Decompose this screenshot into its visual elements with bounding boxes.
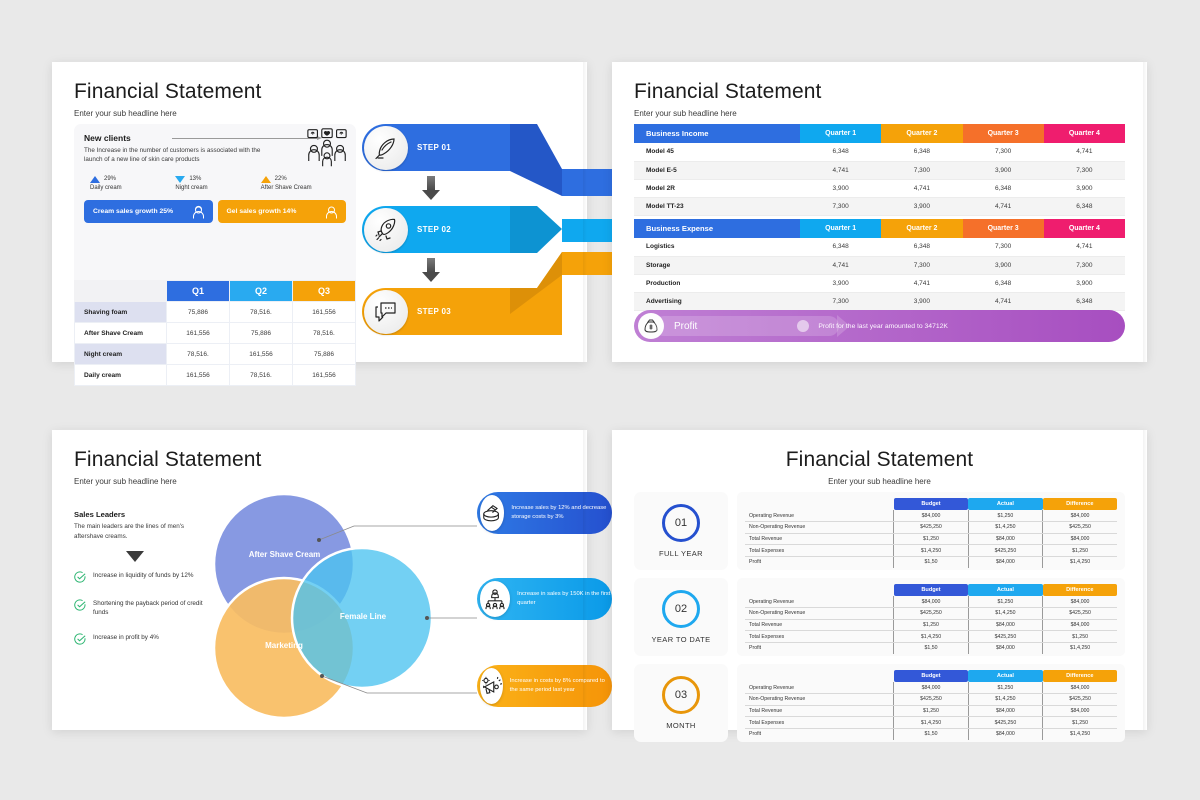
table-row: Profit $1,50 $84,000 $1,4,250 [745, 728, 1117, 740]
list-item: Increase in liquidity of funds by 12% [74, 571, 206, 583]
slide-3-header: Financial Statement Enter your sub headl… [52, 430, 587, 486]
cell: $425,250 [968, 545, 1042, 557]
cell: 78,516. [293, 323, 356, 344]
row-label: Operating Revenue [745, 682, 894, 694]
cell: 161,556 [230, 344, 293, 365]
table-row: Logistics 6,348 6,348 7,300 4,741 [634, 238, 1125, 256]
table-row: Non-Operating Revenue $425,250 $1,4,250 … [745, 694, 1117, 706]
callout-3[interactable]: Increase in costs by 8% compared to the … [477, 665, 612, 707]
cell: 3,900 [1044, 179, 1125, 197]
cell: $1,250 [968, 682, 1042, 694]
cell: $84,000 [1043, 596, 1117, 608]
cell: 75,886 [167, 302, 230, 323]
stats-row: 29% Daily cream 13% Night cream 22% Afte… [84, 176, 346, 192]
cell: 6,348 [881, 143, 962, 161]
table-row: Non-Operating Revenue $425,250 $1,4,250 … [745, 522, 1117, 534]
period-block-full-year[interactable]: 01 FULL YEAR [634, 492, 728, 570]
cell: $425,250 [1043, 608, 1117, 620]
cell: 7,300 [963, 143, 1044, 161]
list-item-label: Increase in liquidity of funds by 12% [93, 571, 193, 580]
cell: 6,348 [963, 274, 1044, 292]
cell: 4,741 [881, 179, 962, 197]
venn-circles [202, 486, 437, 726]
step-icon-wrap [364, 290, 408, 334]
cell: 75,886 [230, 323, 293, 344]
list-item-label: Increase in profit by 4% [93, 633, 159, 642]
cell: 3,900 [963, 256, 1044, 274]
table-row: Model 45 6,348 6,348 7,300 4,741 [634, 143, 1125, 161]
table-row: Total Revenue $1,250 $84,000 $84,000 [745, 705, 1117, 717]
progress-arrow [654, 316, 839, 336]
row-label: Shaving foam [75, 302, 167, 323]
table-row: Model E-5 4,741 7,300 3,900 7,300 [634, 161, 1125, 179]
expense-header-row: Business Expense Quarter 1 Quarter 2 Qua… [634, 219, 1125, 238]
cell: 6,348 [800, 143, 881, 161]
row-label: Night cream [75, 344, 167, 365]
cell: $1,250 [894, 705, 968, 717]
expense-q1: Quarter 1 [800, 219, 881, 238]
cell: 6,348 [881, 238, 962, 256]
slide-2-header: Financial Statement Enter your sub headl… [612, 62, 1147, 118]
income-header-row: Business Income Quarter 1 Quarter 2 Quar… [634, 124, 1125, 143]
cell: $1,50 [894, 556, 968, 568]
cell: $84,000 [968, 556, 1042, 568]
cell: 78,516. [230, 302, 293, 323]
budget-table-month: Budget Actual Difference Operating Reven… [737, 664, 1125, 742]
growth-badges: Cream sales growth 25% Gel sales growth … [84, 200, 346, 223]
cell: 7,300 [800, 292, 881, 310]
period-label: MONTH [666, 721, 696, 730]
arrow-icon [172, 138, 318, 139]
row-label: Advertising [634, 292, 800, 310]
budget-table-year-to-date: Budget Actual Difference Operating Reven… [737, 578, 1125, 656]
new-clients-body: The Increase in the number of customers … [84, 146, 274, 165]
callout-text: Increase sales by 12% and decrease stora… [511, 504, 612, 522]
row-label: Operating Revenue [745, 510, 894, 522]
cell: $1,250 [1043, 631, 1117, 643]
cell: 4,741 [963, 292, 1044, 310]
cell: $1,250 [894, 533, 968, 545]
cell: 161,556 [167, 323, 230, 344]
slide-1[interactable]: Financial Statement Enter your sub headl… [52, 62, 587, 362]
table-row: Model 2R 3,900 4,741 6,348 3,900 [634, 179, 1125, 197]
cell: $1,4,250 [968, 522, 1042, 534]
venn-label-female-line: Female Line [314, 612, 412, 623]
table-row: After Shave Cream 161,556 75,886 78,516. [75, 323, 356, 344]
expense-title: Business Expense [634, 219, 800, 238]
triangle-up-icon [261, 176, 271, 183]
table-row: Operating Revenue $84,000 $1,250 $84,000 [745, 510, 1117, 522]
slide-4[interactable]: Financial Statement Enter your sub headl… [612, 430, 1147, 730]
cell: $1,50 [894, 728, 968, 740]
column-header-budget: Budget [894, 498, 968, 510]
income-q1: Quarter 1 [800, 124, 881, 143]
profit-banner[interactable]: Profit Profit for the last year amounted… [634, 310, 1125, 342]
cell: $1,4,250 [1043, 642, 1117, 654]
cell: $425,250 [894, 694, 968, 706]
column-header-blank [745, 584, 894, 596]
check-circle-icon [74, 571, 86, 583]
slide-4-header: Financial Statement Enter your sub headl… [612, 430, 1147, 486]
slide-1-header: Financial Statement Enter your sub headl… [52, 62, 587, 118]
org-chart-icon [480, 581, 510, 617]
slide-deck: Financial Statement Enter your sub headl… [0, 0, 1200, 800]
page-title: Financial Statement [634, 80, 1147, 104]
period-number: 02 [662, 590, 700, 628]
cell: $1,4,250 [1043, 556, 1117, 568]
table-row: Advertising 7,300 3,900 4,741 6,348 [634, 292, 1125, 310]
step-label: STEP 01 [417, 143, 451, 152]
cell: $1,250 [894, 619, 968, 631]
chevron-down-icon [126, 551, 144, 562]
income-title: Business Income [634, 124, 800, 143]
row-label: Production [634, 274, 800, 292]
triangle-down-icon [175, 176, 185, 183]
table-header-row: Q1 Q2 Q3 [75, 281, 356, 302]
step-icon-wrap [364, 208, 408, 252]
badge-label: Cream sales growth 25% [93, 208, 173, 215]
row-label: Non-Operating Revenue [745, 694, 894, 706]
cell: 4,741 [963, 197, 1044, 215]
column-header-q3: Q3 [293, 281, 356, 302]
cell: $1,250 [1043, 545, 1117, 557]
column-header-q2: Q2 [230, 281, 293, 302]
stat-night-cream: 13% Night cream [175, 176, 260, 192]
table-row: Operating Revenue $84,000 $1,250 $84,000 [745, 596, 1117, 608]
income-expense-table: Business Income Quarter 1 Quarter 2 Quar… [634, 124, 1125, 311]
cell: $425,250 [968, 717, 1042, 729]
cell: $425,250 [1043, 694, 1117, 706]
page-subtitle: Enter your sub headline here [612, 477, 1147, 486]
step-03[interactable]: STEP 03 [362, 288, 510, 335]
table-row: Total Expenses $1,4,250 $425,250 $1,250 [745, 545, 1117, 557]
cell: $1,4,250 [894, 631, 968, 643]
row-label: Model TT-23 [634, 197, 800, 215]
column-header-difference: Difference [1043, 498, 1117, 510]
row-label: Total Expenses [745, 545, 894, 557]
column-header-budget: Budget [894, 670, 968, 682]
stat-value: 13% [189, 176, 201, 182]
row-label: Operating Revenue [745, 596, 894, 608]
table-row: Operating Revenue $84,000 $1,250 $84,000 [745, 682, 1117, 694]
cell: 3,900 [800, 274, 881, 292]
man-avatar-icon [325, 205, 338, 219]
feather-quill-icon [373, 135, 399, 161]
column-header-actual: Actual [968, 498, 1042, 510]
cell: 7,300 [881, 161, 962, 179]
cell: 6,348 [963, 179, 1044, 197]
list-item: Shortening the payback period of credit … [74, 599, 206, 618]
table-header-row: Budget Actual Difference [745, 498, 1117, 510]
budget-table-full-year: Budget Actual Difference Operating Reven… [737, 492, 1125, 570]
cell: $1,250 [1043, 717, 1117, 729]
page-subtitle: Enter your sub headline here [74, 109, 587, 118]
quarterly-sales-table: Q1 Q2 Q3 Shaving foam 75,886 78,516. 161… [74, 280, 356, 386]
period-number: 01 [662, 504, 700, 542]
cell: $84,000 [1043, 682, 1117, 694]
table-row: Profit $1,50 $84,000 $1,4,250 [745, 556, 1117, 568]
rocket-icon [373, 217, 399, 243]
table-row: Production 3,900 4,741 6,348 3,900 [634, 274, 1125, 292]
callout-1[interactable]: Increase sales by 12% and decrease stora… [477, 492, 612, 534]
table-row: Total Revenue $1,250 $84,000 $84,000 [745, 619, 1117, 631]
cell: $84,000 [894, 682, 968, 694]
list-item-label: Shortening the payback period of credit … [93, 599, 206, 618]
cell: $1,250 [968, 596, 1042, 608]
row-label: Total Revenue [745, 705, 894, 717]
row-label: Logistics [634, 238, 800, 256]
table-row: Night cream 78,516. 161,556 75,886 [75, 344, 356, 365]
cell: 3,900 [963, 161, 1044, 179]
cell: $84,000 [894, 596, 968, 608]
woman-avatar-icon [192, 205, 205, 219]
step-icon-wrap [364, 126, 408, 170]
cell: $84,000 [894, 510, 968, 522]
page-title: Financial Statement [74, 80, 587, 104]
cell: 78,516. [167, 344, 230, 365]
page-title: Financial Statement [74, 448, 587, 472]
megaphone-icon [480, 668, 503, 704]
table-row: Total Expenses $1,4,250 $425,250 $1,250 [745, 631, 1117, 643]
income-q3: Quarter 3 [963, 124, 1044, 143]
cell: $84,000 [968, 642, 1042, 654]
table-header-row: Budget Actual Difference [745, 584, 1117, 596]
cell: $84,000 [968, 619, 1042, 631]
column-header-budget: Budget [894, 584, 968, 596]
row-label: Model 45 [634, 143, 800, 161]
cell: 4,741 [800, 256, 881, 274]
triangle-up-icon [90, 176, 100, 183]
stat-label: Daily cream [90, 185, 175, 191]
expense-q2: Quarter 2 [881, 219, 962, 238]
cell: $1,4,250 [894, 717, 968, 729]
check-circle-icon [74, 633, 86, 645]
badge-label: Gel sales growth 14% [227, 208, 297, 215]
stat-value: 22% [275, 176, 287, 182]
table-row: Storage 4,741 7,300 3,900 7,300 [634, 256, 1125, 274]
callout-text: Increase in sales by 150K in the first q… [517, 590, 612, 608]
step-02[interactable]: STEP 02 [362, 206, 510, 253]
row-label: Non-Operating Revenue [745, 522, 894, 534]
page-subtitle: Enter your sub headline here [74, 477, 587, 486]
stat-label: After Shave Cream [261, 185, 346, 191]
callout-2[interactable]: Increase in sales by 150K in the first q… [477, 578, 612, 620]
row-label: Total Revenue [745, 533, 894, 545]
cell: 4,741 [1044, 143, 1125, 161]
column-header-blank [745, 498, 894, 510]
cell: 7,300 [800, 197, 881, 215]
list-item: Increase in profit by 4% [74, 633, 206, 645]
cell: 75,886 [293, 344, 356, 365]
stat-daily-cream: 29% Daily cream [90, 176, 175, 192]
cell: $84,000 [968, 705, 1042, 717]
row-label: Profit [745, 728, 894, 740]
cell: 6,348 [800, 238, 881, 256]
cell: $84,000 [968, 728, 1042, 740]
cell: 4,741 [881, 274, 962, 292]
table-header-row: Budget Actual Difference [745, 670, 1117, 682]
row-label: Total Expenses [745, 631, 894, 643]
cell: 3,900 [881, 292, 962, 310]
step-01[interactable]: STEP 01 [362, 124, 510, 171]
cell: $84,000 [1043, 705, 1117, 717]
stat-label: Night cream [175, 185, 260, 191]
column-header-q1: Q1 [167, 281, 230, 302]
cell: 7,300 [881, 256, 962, 274]
down-arrow-icon [424, 176, 438, 200]
cell: 7,300 [963, 238, 1044, 256]
table-row: Non-Operating Revenue $425,250 $1,4,250 … [745, 608, 1117, 620]
income-q4: Quarter 4 [1044, 124, 1125, 143]
row-label: Model E-5 [634, 161, 800, 179]
cell: 78,516. [230, 365, 293, 386]
expense-q3: Quarter 3 [963, 219, 1044, 238]
table-row: Shaving foam 75,886 78,516. 161,556 [75, 302, 356, 323]
down-arrow-icon [424, 258, 438, 282]
row-label: Profit [745, 556, 894, 568]
cell: 6,348 [1044, 292, 1125, 310]
row-label: Total Expenses [745, 717, 894, 729]
period-label: YEAR TO DATE [652, 635, 711, 644]
cell: $1,4,250 [968, 608, 1042, 620]
coin-stack-icon [480, 495, 504, 531]
cell: $1,50 [894, 642, 968, 654]
process-steps: STEP 01 STEP 02 [362, 124, 567, 346]
period-block-year-to-date[interactable]: 02 YEAR TO DATE [634, 578, 728, 656]
callout-text: Increase in costs by 8% compared to the … [510, 677, 612, 695]
period-label: FULL YEAR [659, 549, 703, 558]
cell: 4,741 [800, 161, 881, 179]
cream-sales-growth-badge[interactable]: Cream sales growth 25% [84, 200, 213, 223]
venn-label-marketing: Marketing [234, 641, 334, 652]
cell: 6,348 [1044, 197, 1125, 215]
family-group-icon [306, 128, 348, 168]
venn-label-after-shave-cream: After Shave Cream [232, 550, 337, 561]
cell: $84,000 [1043, 510, 1117, 522]
table-row: Total Expenses $1,4,250 $425,250 $1,250 [745, 717, 1117, 729]
stat-after-shave-cream: 22% After Shave Cream [261, 176, 346, 192]
row-label: Profit [745, 642, 894, 654]
column-header-blank [745, 670, 894, 682]
column-header-actual: Actual [968, 670, 1042, 682]
row-label: Model 2R [634, 179, 800, 197]
slide-2[interactable]: Financial Statement Enter your sub headl… [612, 62, 1147, 362]
cell: $1,4,250 [894, 545, 968, 557]
column-header-difference: Difference [1043, 584, 1117, 596]
cell: $84,000 [968, 533, 1042, 545]
cell: $84,000 [1043, 619, 1117, 631]
cell: 3,900 [881, 197, 962, 215]
sales-leaders-body: The main leaders are the lines of men's … [74, 522, 206, 542]
sales-leaders-heading: Sales Leaders [74, 510, 206, 519]
column-header-blank [75, 281, 167, 302]
sales-leaders-block: Sales Leaders The main leaders are the l… [74, 510, 206, 661]
cell: $425,250 [894, 608, 968, 620]
table-row: Profit $1,50 $84,000 $1,4,250 [745, 642, 1117, 654]
cell: $1,250 [968, 510, 1042, 522]
cell: 3,900 [800, 179, 881, 197]
period-block-month[interactable]: 03 MONTH [634, 664, 728, 742]
cell: 161,556 [293, 365, 356, 386]
row-label: Storage [634, 256, 800, 274]
cell: $425,250 [1043, 522, 1117, 534]
cell: $1,4,250 [968, 694, 1042, 706]
chat-bubble-icon [373, 299, 399, 325]
row-label: Non-Operating Revenue [745, 608, 894, 620]
row-label: Total Revenue [745, 619, 894, 631]
column-header-actual: Actual [968, 584, 1042, 596]
cell: 7,300 [1044, 161, 1125, 179]
cell: 3,900 [1044, 274, 1125, 292]
table-row: Daily cream 161,556 78,516. 161,556 [75, 365, 356, 386]
gel-sales-growth-badge[interactable]: Gel sales growth 14% [218, 200, 347, 223]
column-header-difference: Difference [1043, 670, 1117, 682]
cell: $425,250 [968, 631, 1042, 643]
cell: 161,556 [293, 302, 356, 323]
table-row: Model TT-23 7,300 3,900 4,741 6,348 [634, 197, 1125, 215]
cell: $425,250 [894, 522, 968, 534]
venn-diagram: After Shave Cream Female Line Marketing [202, 486, 437, 726]
cell: $1,4,250 [1043, 728, 1117, 740]
step-label: STEP 02 [417, 225, 451, 234]
check-circle-icon [74, 599, 86, 611]
cell: $84,000 [1043, 533, 1117, 545]
step-label: STEP 03 [417, 307, 451, 316]
table-row: Total Revenue $1,250 $84,000 $84,000 [745, 533, 1117, 545]
page-subtitle: Enter your sub headline here [634, 109, 1147, 118]
page-title: Financial Statement [612, 448, 1147, 472]
slide-3[interactable]: Financial Statement Enter your sub headl… [52, 430, 587, 730]
cell: 4,741 [1044, 238, 1125, 256]
expense-q4: Quarter 4 [1044, 219, 1125, 238]
stat-value: 29% [104, 176, 116, 182]
cell: 7,300 [1044, 256, 1125, 274]
cell: 161,556 [167, 365, 230, 386]
period-number: 03 [662, 676, 700, 714]
row-label: After Shave Cream [75, 323, 167, 344]
row-label: Daily cream [75, 365, 167, 386]
income-q2: Quarter 2 [881, 124, 962, 143]
